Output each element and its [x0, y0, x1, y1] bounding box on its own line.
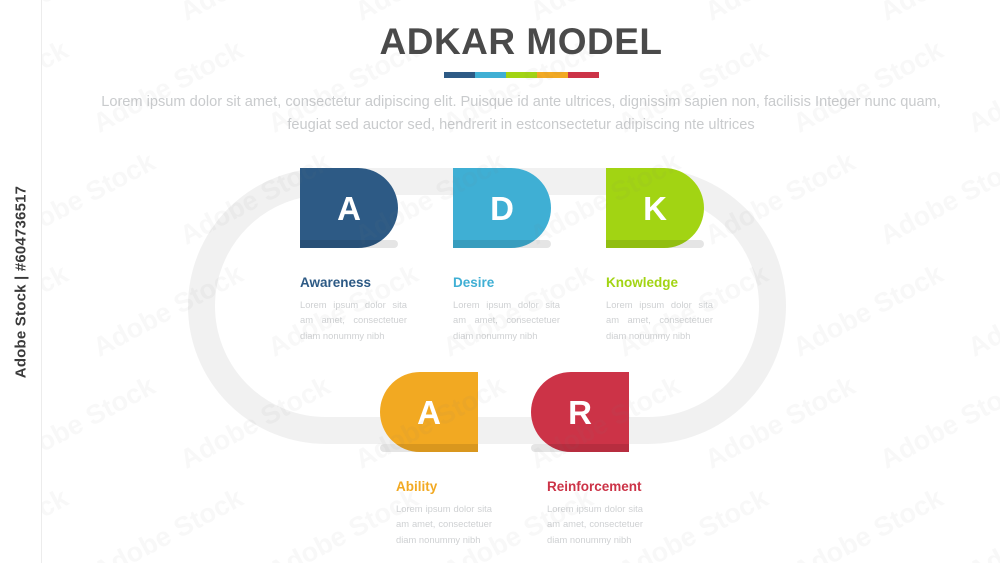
step-label-knowledge: Knowledge: [606, 275, 704, 291]
page-title: ADKAR MODEL: [42, 22, 1000, 63]
step-badge-reinforcement[interactable]: R: [531, 372, 629, 452]
step-letter: R: [568, 396, 592, 429]
step-description-desire: Lorem ipsum dolor sita am amet, consecte…: [453, 297, 560, 343]
step-letter: A: [417, 396, 441, 429]
top-step-row: A Awareness Lorem ipsum dolor sita am am…: [300, 168, 704, 343]
accent-segment-3: [506, 72, 537, 78]
step-description-ability: Lorem ipsum dolor sita am amet, consecte…: [380, 501, 492, 547]
step-badge-desire[interactable]: D: [453, 168, 551, 248]
step-knowledge[interactable]: K Knowledge Lorem ipsum dolor sita am am…: [606, 168, 704, 343]
accent-segment-5: [568, 72, 599, 78]
step-letter: A: [337, 192, 361, 225]
accent-segment-2: [475, 72, 506, 78]
step-ability[interactable]: A Ability Lorem ipsum dolor sita am amet…: [380, 372, 478, 547]
step-label-awareness: Awareness: [300, 275, 398, 291]
step-desire[interactable]: D Desire Lorem ipsum dolor sita am amet,…: [453, 168, 551, 343]
step-reinforcement[interactable]: R Reinforcement Lorem ipsum dolor sita a…: [531, 372, 629, 547]
step-badge-knowledge[interactable]: K: [606, 168, 704, 248]
step-badge-ability[interactable]: A: [380, 372, 478, 452]
bottom-step-row: A Ability Lorem ipsum dolor sita am amet…: [380, 372, 629, 547]
infographic-canvas: ADKAR MODEL Lorem ipsum dolor sit amet, …: [42, 0, 1000, 563]
step-description-reinforcement: Lorem ipsum dolor sita am amet, consecte…: [531, 501, 643, 547]
header: ADKAR MODEL Lorem ipsum dolor sit amet, …: [42, 22, 1000, 137]
accent-bar: [444, 72, 599, 78]
step-label-desire: Desire: [453, 275, 551, 291]
step-letter: K: [643, 192, 667, 225]
step-label-reinforcement: Reinforcement: [531, 479, 629, 495]
step-description-knowledge: Lorem ipsum dolor sita am amet, consecte…: [606, 297, 713, 343]
accent-segment-1: [444, 72, 475, 78]
adobe-stock-rail: Adobe Stock | #604736517: [0, 0, 42, 563]
step-badge-awareness[interactable]: A: [300, 168, 398, 248]
adobe-stock-rail-label: Adobe Stock | #604736517: [12, 185, 29, 377]
subtitle: Lorem ipsum dolor sit amet, consectetur …: [81, 91, 961, 137]
step-awareness[interactable]: A Awareness Lorem ipsum dolor sita am am…: [300, 168, 398, 343]
step-label-ability: Ability: [380, 479, 478, 495]
accent-segment-4: [537, 72, 568, 78]
step-letter: D: [490, 192, 514, 225]
step-description-awareness: Lorem ipsum dolor sita am amet, consecte…: [300, 297, 407, 343]
